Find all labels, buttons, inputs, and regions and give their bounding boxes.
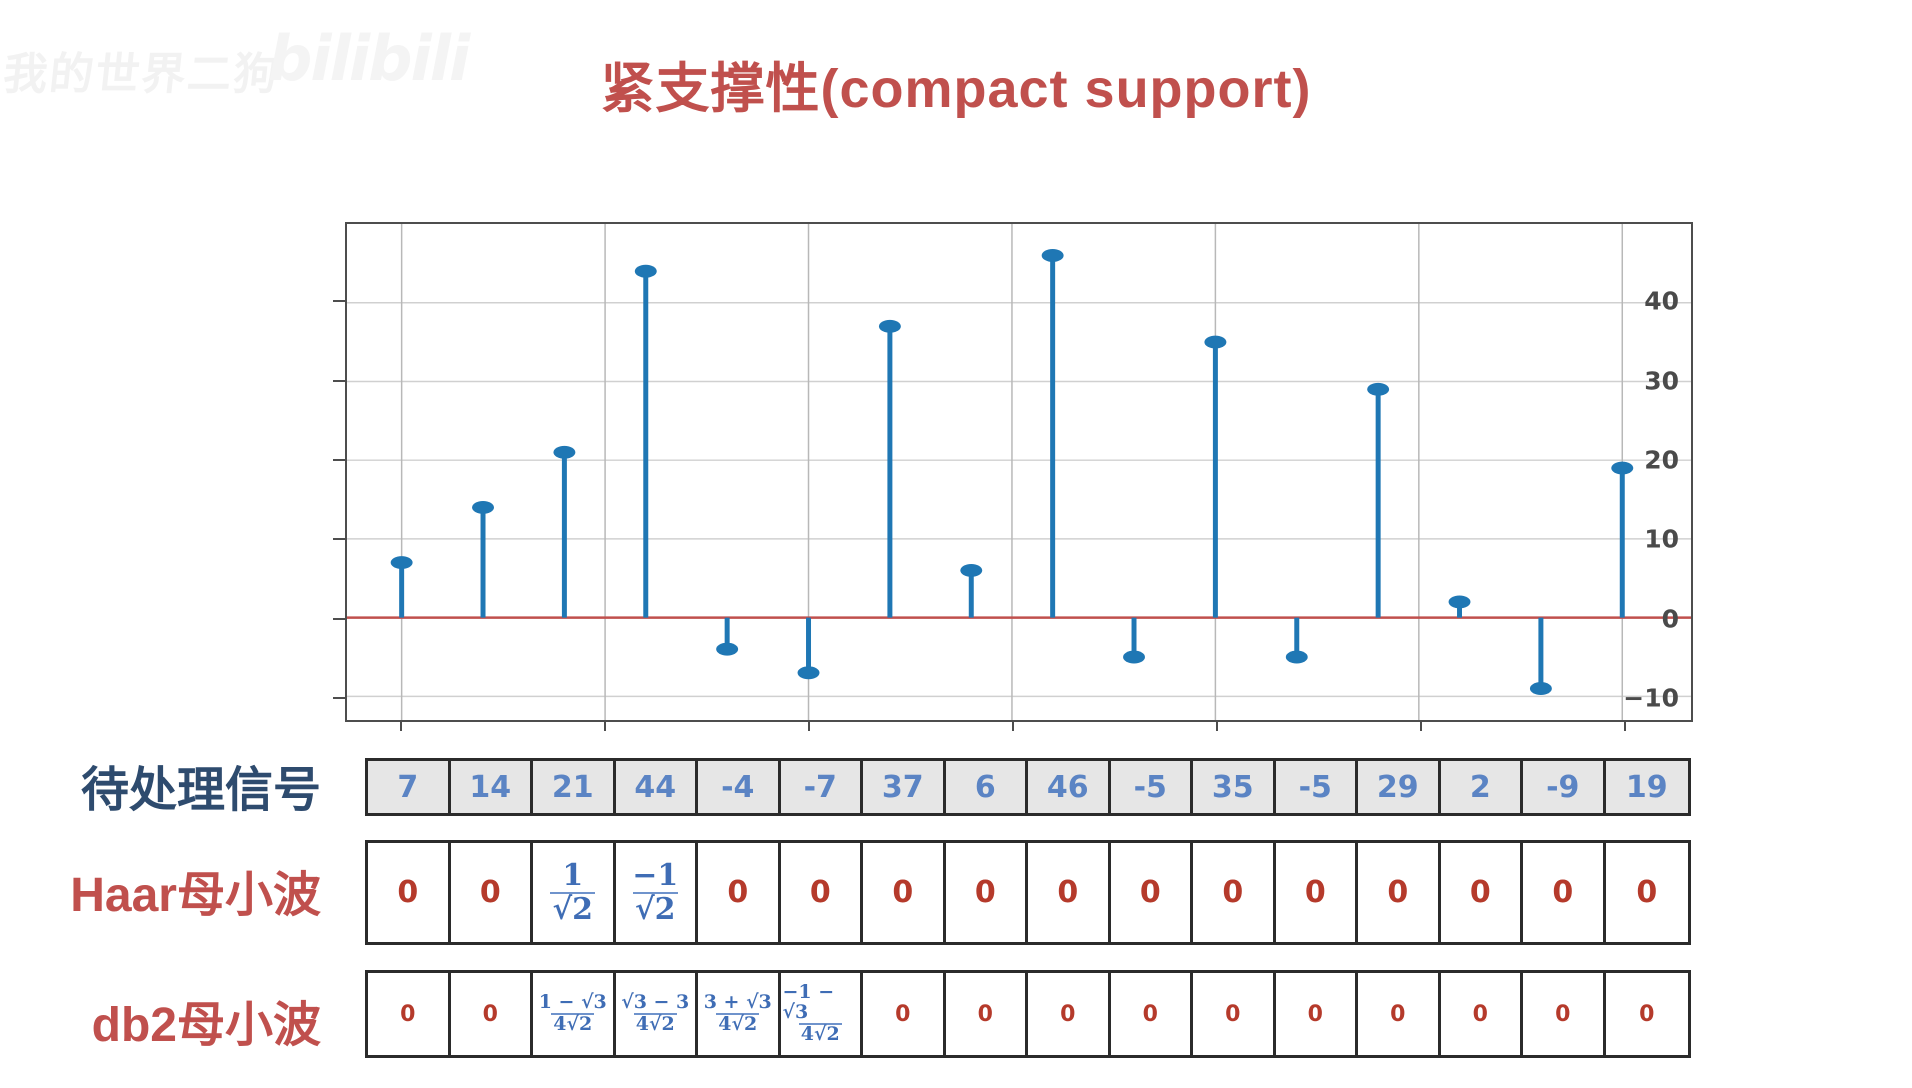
fraction: 3 + √34√2 [702, 993, 774, 1035]
haar-cell: 0 [946, 843, 1029, 942]
y-tick-mark [333, 538, 345, 540]
haar-cell: 0 [1523, 843, 1606, 942]
plot-area [345, 222, 1693, 722]
y-tick-mark [333, 380, 345, 382]
signal-cell: 44 [616, 761, 699, 813]
haar-cell: 0 [1606, 843, 1689, 942]
y-tick-label: 40 [1644, 287, 1679, 316]
signal-table-row: 7142144-4-737646-535-5292-919 [365, 758, 1691, 816]
x-tick-mark [604, 722, 606, 731]
x-tick-mark [1216, 722, 1218, 731]
db2-cell: −1 − √34√2 [781, 973, 864, 1055]
db2-cell: 0 [863, 973, 946, 1055]
fraction-denominator: 4√2 [551, 1013, 594, 1035]
haar-cell: 0 [1441, 843, 1524, 942]
signal-cell: -5 [1276, 761, 1359, 813]
fraction-numerator: −1 [630, 860, 680, 892]
signal-cell: -9 [1523, 761, 1606, 813]
db2-cell: 0 [1193, 973, 1276, 1055]
haar-cell: 0 [368, 843, 451, 942]
db2-cell: 0 [1523, 973, 1606, 1055]
haar-cell: 0 [863, 843, 946, 942]
db2-cell: 0 [1111, 973, 1194, 1055]
row-label-db2: db2母小波 [0, 985, 345, 1055]
y-tick-label: 0 [1662, 604, 1679, 633]
y-tick-label: 10 [1644, 525, 1679, 554]
row-label-haar: Haar母小波 [0, 855, 345, 925]
fraction: 1√2 [550, 860, 595, 925]
signal-cell: -7 [781, 761, 864, 813]
haar-cell: 0 [451, 843, 534, 942]
signal-cell: 29 [1358, 761, 1441, 813]
stem-chart: −10010203040 [345, 222, 1693, 722]
fraction: −1 − √34√2 [781, 983, 861, 1045]
fraction-numerator: 3 + √3 [702, 993, 774, 1013]
chart-canvas [347, 224, 1691, 720]
signal-cell: 2 [1441, 761, 1524, 813]
row-label-signal: 待处理信号 [0, 750, 345, 820]
db2-cell: 0 [1441, 973, 1524, 1055]
y-tick-mark [333, 459, 345, 461]
x-tick-mark [400, 722, 402, 731]
db2-cell: 0 [1028, 973, 1111, 1055]
y-tick-label: −10 [1623, 684, 1679, 713]
db2-cell: √3 − 34√2 [616, 973, 699, 1055]
db2-cell: 3 + √34√2 [698, 973, 781, 1055]
haar-table-row: 001√2−1√2000000000000 [365, 840, 1691, 945]
fraction-denominator: 4√2 [716, 1013, 759, 1035]
haar-cell: 1√2 [533, 843, 616, 942]
signal-cell: 6 [946, 761, 1029, 813]
x-tick-mark [1420, 722, 1422, 731]
fraction-denominator: √2 [633, 892, 678, 926]
fraction-numerator: √3 − 3 [619, 993, 691, 1013]
db2-cell: 0 [368, 973, 451, 1055]
signal-cell: 7 [368, 761, 451, 813]
signal-cell: 46 [1028, 761, 1111, 813]
fraction-numerator: −1 − √3 [781, 983, 861, 1023]
db2-cell: 0 [1606, 973, 1689, 1055]
fraction: √3 − 34√2 [619, 993, 691, 1035]
signal-cell: 19 [1606, 761, 1689, 813]
fraction-denominator: √2 [550, 892, 595, 926]
y-tick-label: 30 [1644, 366, 1679, 395]
signal-cell: -4 [698, 761, 781, 813]
haar-cell: −1√2 [616, 843, 699, 942]
fraction: −1√2 [630, 860, 680, 925]
fraction: 1 − √34√2 [537, 993, 609, 1035]
db2-cell: 0 [451, 973, 534, 1055]
signal-cell: 14 [451, 761, 534, 813]
db2-cell: 1 − √34√2 [533, 973, 616, 1055]
page-title: 紧支撑性(compact support) [0, 44, 1912, 123]
haar-cell: 0 [1111, 843, 1194, 942]
fraction-numerator: 1 [560, 860, 585, 892]
db2-cell: 0 [1276, 973, 1359, 1055]
fraction-denominator: 4√2 [634, 1013, 677, 1035]
haar-cell: 0 [1276, 843, 1359, 942]
haar-cell: 0 [781, 843, 864, 942]
db2-table-row: 001 − √34√2√3 − 34√23 + √34√2−1 − √34√20… [365, 970, 1691, 1058]
haar-cell: 0 [1358, 843, 1441, 942]
fraction-denominator: 4√2 [799, 1023, 842, 1045]
haar-cell: 0 [1193, 843, 1276, 942]
y-tick-label: 20 [1644, 446, 1679, 475]
x-tick-mark [808, 722, 810, 731]
haar-cell: 0 [1028, 843, 1111, 942]
signal-cell: -5 [1111, 761, 1194, 813]
haar-cell: 0 [698, 843, 781, 942]
signal-cell: 21 [533, 761, 616, 813]
x-tick-mark [1624, 722, 1626, 731]
x-tick-mark [1012, 722, 1014, 731]
signal-cell: 35 [1193, 761, 1276, 813]
y-tick-mark [333, 300, 345, 302]
fraction-numerator: 1 − √3 [537, 993, 609, 1013]
signal-cell: 37 [863, 761, 946, 813]
y-tick-mark [333, 618, 345, 620]
db2-cell: 0 [946, 973, 1029, 1055]
y-tick-mark [333, 697, 345, 699]
db2-cell: 0 [1358, 973, 1441, 1055]
